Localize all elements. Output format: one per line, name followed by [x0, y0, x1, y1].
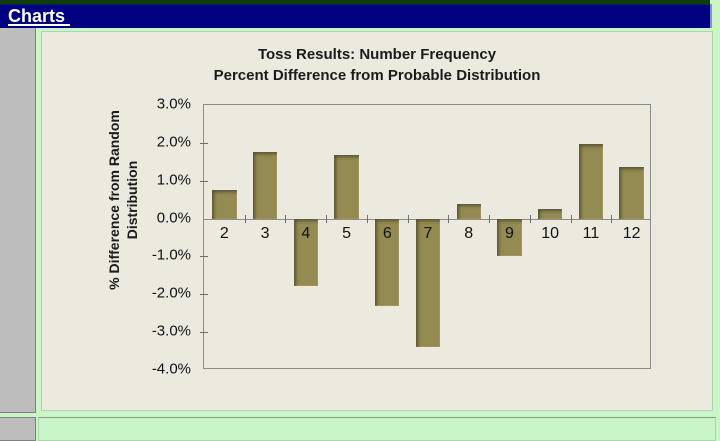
x-axis-tick-mark: [245, 215, 246, 223]
x-axis-category-label: 12: [623, 225, 641, 243]
y-axis-title-line-1: % Difference from Random: [106, 110, 122, 290]
window-titlebar: Charts: [0, 4, 710, 28]
y-axis-tick-label: -1.0%: [152, 247, 191, 264]
x-axis-category-label: 5: [342, 225, 351, 243]
bar-11[interactable]: [579, 144, 603, 218]
title-underline: [8, 24, 70, 26]
chart-title-block: Toss Results: Number Frequency Percent D…: [42, 44, 712, 86]
left-side-panel-footer[interactable]: [0, 417, 36, 441]
y-axis-tick-mark: [200, 332, 208, 333]
x-axis-tick-mark: [571, 215, 572, 223]
x-axis-tick-mark: [530, 215, 531, 223]
y-axis-tick-label: 1.0%: [157, 171, 191, 188]
bar-2[interactable]: [212, 190, 236, 219]
y-axis-tick-mark: [200, 294, 208, 295]
slide-frame: Toss Results: Number Frequency Percent D…: [38, 28, 716, 414]
y-axis-tick-label: 3.0%: [157, 96, 191, 113]
plot-area[interactable]: 23456789101112: [203, 104, 651, 369]
x-axis-category-label: 4: [301, 225, 310, 243]
left-side-panel[interactable]: [0, 28, 36, 413]
slide-canvas[interactable]: Toss Results: Number Frequency Percent D…: [41, 31, 713, 411]
x-axis-category-label: 3: [261, 225, 270, 243]
y-axis-tick-label: 2.0%: [157, 133, 191, 150]
y-axis-tick-labels: 3.0%2.0%1.0%0.0%-1.0%-2.0%-3.0%-4.0%: [137, 104, 197, 369]
x-axis-tick-mark: [367, 215, 368, 223]
slide-frame-footer: [38, 417, 716, 441]
x-axis-category-label: 2: [220, 225, 229, 243]
y-axis-tick-label: -3.0%: [152, 323, 191, 340]
x-axis-category-label: 6: [383, 225, 392, 243]
x-axis-tick-mark: [285, 215, 286, 223]
x-axis-category-label: 8: [464, 225, 473, 243]
x-axis-tick-mark: [408, 215, 409, 223]
x-axis-category-label: 10: [541, 225, 559, 243]
bar-8[interactable]: [457, 204, 481, 219]
presentation-window: Charts Toss Results: Number Frequency Pe…: [0, 0, 720, 441]
x-axis-tick-mark: [448, 215, 449, 223]
x-axis-tick-mark: [326, 215, 327, 223]
y-axis-title: % Difference from Random Distribution: [105, 70, 141, 330]
x-axis-tick-mark: [611, 215, 612, 223]
chart-plot-wrapper: 3.0%2.0%1.0%0.0%-1.0%-2.0%-3.0%-4.0% 234…: [137, 104, 707, 384]
x-axis-category-label: 11: [583, 225, 600, 243]
y-axis-tick-label: -2.0%: [152, 285, 191, 302]
chart-title-line-2: Percent Difference from Probable Distrib…: [42, 65, 712, 86]
y-axis-tick-mark: [200, 143, 208, 144]
y-axis-tick-label: -4.0%: [152, 361, 191, 378]
y-axis-tick-mark: [200, 256, 208, 257]
x-axis-tick-mark: [489, 215, 490, 223]
bar-12[interactable]: [619, 167, 643, 219]
y-axis-tick-mark: [200, 181, 208, 182]
y-axis-tick-label: 0.0%: [157, 209, 191, 226]
bar-5[interactable]: [334, 155, 358, 218]
x-axis-category-label: 7: [424, 225, 433, 243]
x-axis-category-label: 9: [505, 225, 514, 243]
bar-10[interactable]: [538, 209, 562, 219]
chart-title-line-1: Toss Results: Number Frequency: [258, 46, 496, 63]
titlebar-right-edge: [710, 4, 712, 28]
bar-3[interactable]: [253, 152, 277, 219]
